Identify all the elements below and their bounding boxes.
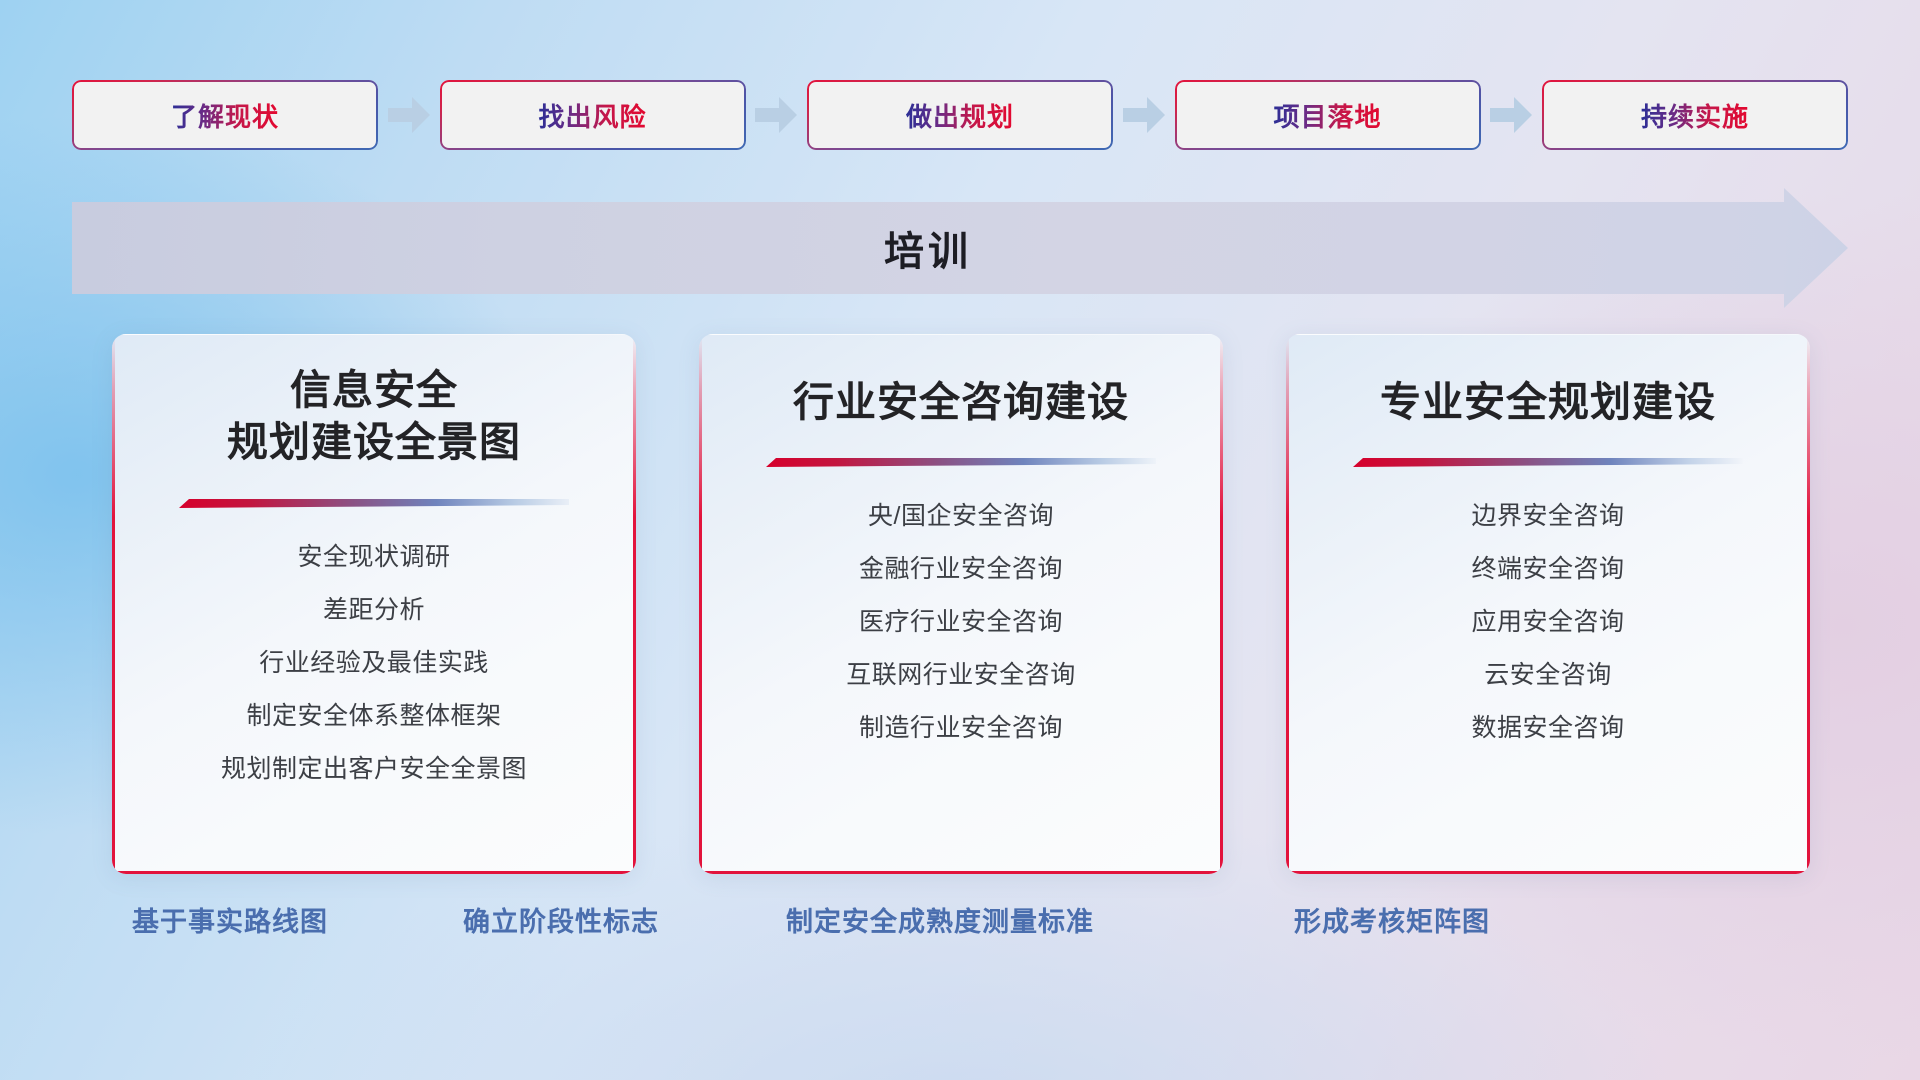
caption-4: 形成考核矩阵图 xyxy=(1294,900,1490,939)
list-item: 云安全咨询 xyxy=(1484,655,1612,691)
list-item: 制造行业安全咨询 xyxy=(859,708,1063,744)
card-item-list: 央/国企安全咨询 金融行业安全咨询 医疗行业安全咨询 互联网行业安全咨询 制造行… xyxy=(699,496,1223,744)
card-divider xyxy=(179,495,569,511)
caption-1: 基于事实路线图 xyxy=(132,900,328,939)
step-box-5[interactable]: 持续实施 xyxy=(1542,80,1848,150)
step-box-1[interactable]: 了解现状 xyxy=(72,80,378,150)
card-title: 行业安全咨询建设 xyxy=(699,376,1223,428)
list-item: 规划制定出客户安全全景图 xyxy=(221,749,527,785)
process-steps-row: 了解现状 找出风险 做出规划 项目落地 持续实施 xyxy=(72,80,1848,150)
card-top-highlight xyxy=(699,334,1223,335)
list-item: 应用安全咨询 xyxy=(1471,602,1624,638)
card-top-highlight xyxy=(1286,334,1810,335)
card-bottom-accent-edge xyxy=(112,871,636,874)
caption-3: 制定安全成熟度测量标准 xyxy=(786,900,1094,939)
list-item: 制定安全体系整体框架 xyxy=(246,696,501,732)
card-title-line: 行业安全咨询建设 xyxy=(699,376,1223,428)
step-arrow-icon-4 xyxy=(1481,97,1543,133)
step-label: 持续实施 xyxy=(1641,97,1749,134)
list-item: 央/国企安全咨询 xyxy=(868,496,1054,532)
list-item: 金融行业安全咨询 xyxy=(859,549,1063,585)
banner-arrow-tip-icon xyxy=(1784,188,1848,308)
step-box-3[interactable]: 做出规划 xyxy=(807,80,1113,150)
step-label: 项目落地 xyxy=(1273,97,1381,134)
list-item: 差距分析 xyxy=(323,590,425,626)
card-divider xyxy=(766,454,1156,470)
card-info-security-blueprint[interactable]: 信息安全 规划建设全景图 安全现状调研 xyxy=(112,334,636,874)
step-box-2[interactable]: 找出风险 xyxy=(440,80,746,150)
card-title: 信息安全 规划建设全景图 xyxy=(112,364,636,469)
card-bottom-accent-edge xyxy=(699,871,1223,874)
list-item: 医疗行业安全咨询 xyxy=(859,602,1063,638)
list-item: 数据安全咨询 xyxy=(1471,708,1624,744)
list-item: 终端安全咨询 xyxy=(1471,549,1624,585)
card-professional-security-planning[interactable]: 专业安全规划建设 边界安全咨询 终端安全咨询 xyxy=(1286,334,1810,874)
step-label: 找出风险 xyxy=(538,97,646,134)
step-box-4[interactable]: 项目落地 xyxy=(1175,80,1481,150)
cards-row: 信息安全 规划建设全景图 安全现状调研 xyxy=(112,334,1812,874)
banner-title: 培训 xyxy=(72,202,1784,294)
list-item: 边界安全咨询 xyxy=(1471,496,1624,532)
card-top-highlight xyxy=(112,334,636,335)
list-item: 互联网行业安全咨询 xyxy=(846,655,1076,691)
card-title-line: 信息安全 xyxy=(112,364,636,416)
card-title-line: 专业安全规划建设 xyxy=(1286,376,1810,428)
step-arrow-icon-1 xyxy=(378,97,440,133)
step-label: 了解现状 xyxy=(171,97,279,134)
card-divider xyxy=(1353,454,1743,470)
list-item: 行业经验及最佳实践 xyxy=(259,643,489,679)
footer-captions: 基于事实路线图 确立阶段性标志 制定安全成熟度测量标准 形成考核矩阵图 xyxy=(0,900,1920,960)
step-arrow-icon-2 xyxy=(746,97,808,133)
card-bottom-accent-edge xyxy=(1286,871,1810,874)
card-title-line: 规划建设全景图 xyxy=(112,416,636,468)
list-item: 安全现状调研 xyxy=(297,537,450,573)
card-industry-security-consulting[interactable]: 行业安全咨询建设 央/国企安全咨询 金融行业安全咨 xyxy=(699,334,1223,874)
card-item-list: 边界安全咨询 终端安全咨询 应用安全咨询 云安全咨询 数据安全咨询 xyxy=(1286,496,1810,744)
card-title: 专业安全规划建设 xyxy=(1286,376,1810,428)
step-label: 做出规划 xyxy=(906,97,1014,134)
step-arrow-icon-3 xyxy=(1113,97,1175,133)
caption-2: 确立阶段性标志 xyxy=(463,900,659,939)
card-item-list: 安全现状调研 差距分析 行业经验及最佳实践 制定安全体系整体框架 规划制定出客户… xyxy=(112,537,636,785)
training-banner: 培训 xyxy=(72,202,1848,294)
